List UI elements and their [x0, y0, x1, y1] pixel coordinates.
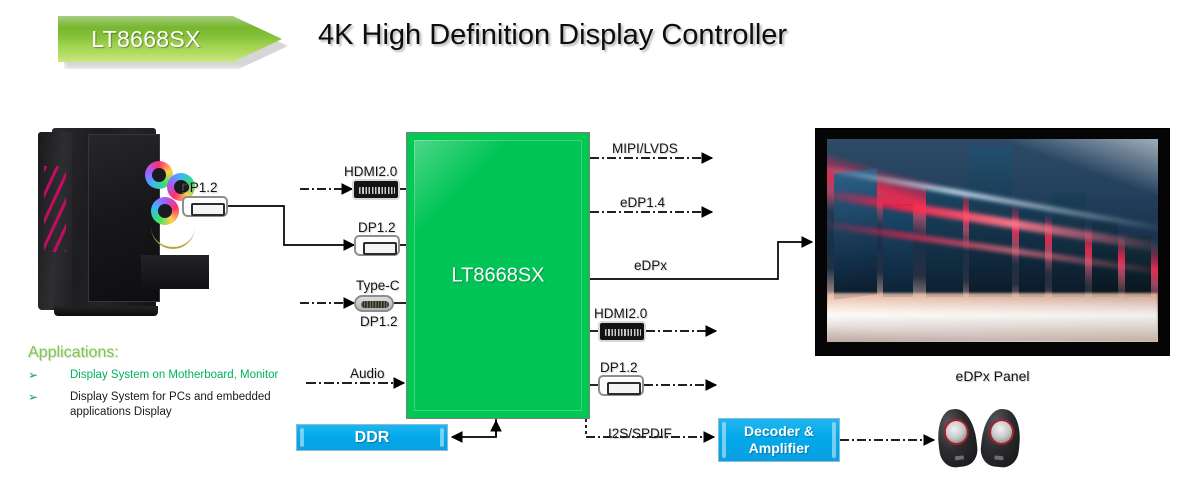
source-dp-port-icon [182, 196, 228, 217]
input-sublabel-typec-dp12: DP1.2 [360, 314, 398, 329]
bullet-arrow-icon: ➢ [28, 390, 70, 420]
input-typec-port-icon [354, 295, 394, 312]
ddr-label: DDR [355, 429, 390, 447]
wire-pc-to-dp12 [228, 206, 354, 245]
input-hdmi-port-icon [352, 179, 400, 200]
application-item-text: Display System for PCs and embedded appl… [70, 390, 288, 420]
output-label-mipi-lvds: MIPI/LVDS [612, 141, 678, 156]
i2s-spdif-label: I2S/SPDIF [608, 426, 672, 441]
amplifier-label-line2: Amplifier [744, 440, 814, 457]
wire-output-edpx [590, 242, 812, 279]
ddr-block: DDR [296, 424, 448, 451]
bullet-arrow-icon: ➢ [28, 368, 70, 384]
diagram-canvas: LT8668SX 4K High Definition Display Cont… [0, 0, 1180, 489]
applications-block: Applications: ➢ Display System on Mother… [28, 344, 288, 420]
amplifier-block: Decoder & Amplifier [718, 418, 840, 462]
output-label-dp12: DP1.2 [600, 360, 638, 375]
output-label-hdmi20: HDMI2.0 [594, 306, 647, 321]
source-port-label: DP1.2 [180, 180, 218, 195]
output-dp-port-icon [598, 375, 644, 396]
application-item-text: Display System on Motherboard, Monitor [70, 368, 278, 384]
output-label-edp14: eDP1.4 [620, 195, 665, 210]
application-item: ➢ Display System on Motherboard, Monitor [28, 368, 288, 384]
input-dp-port-icon [354, 235, 400, 256]
wire-chip-to-ddr [452, 419, 496, 437]
input-label-audio: Audio [350, 366, 385, 381]
output-label-edpx: eDPx [634, 258, 667, 273]
applications-title: Applications: [28, 344, 288, 362]
input-label-hdmi20: HDMI2.0 [344, 164, 397, 179]
input-label-dp12: DP1.2 [358, 220, 396, 235]
output-hdmi-port-icon [598, 321, 646, 342]
application-item: ➢ Display System for PCs and embedded ap… [28, 390, 288, 420]
amplifier-label-line1: Decoder & [744, 423, 814, 440]
input-label-typec: Type-C [356, 278, 400, 293]
